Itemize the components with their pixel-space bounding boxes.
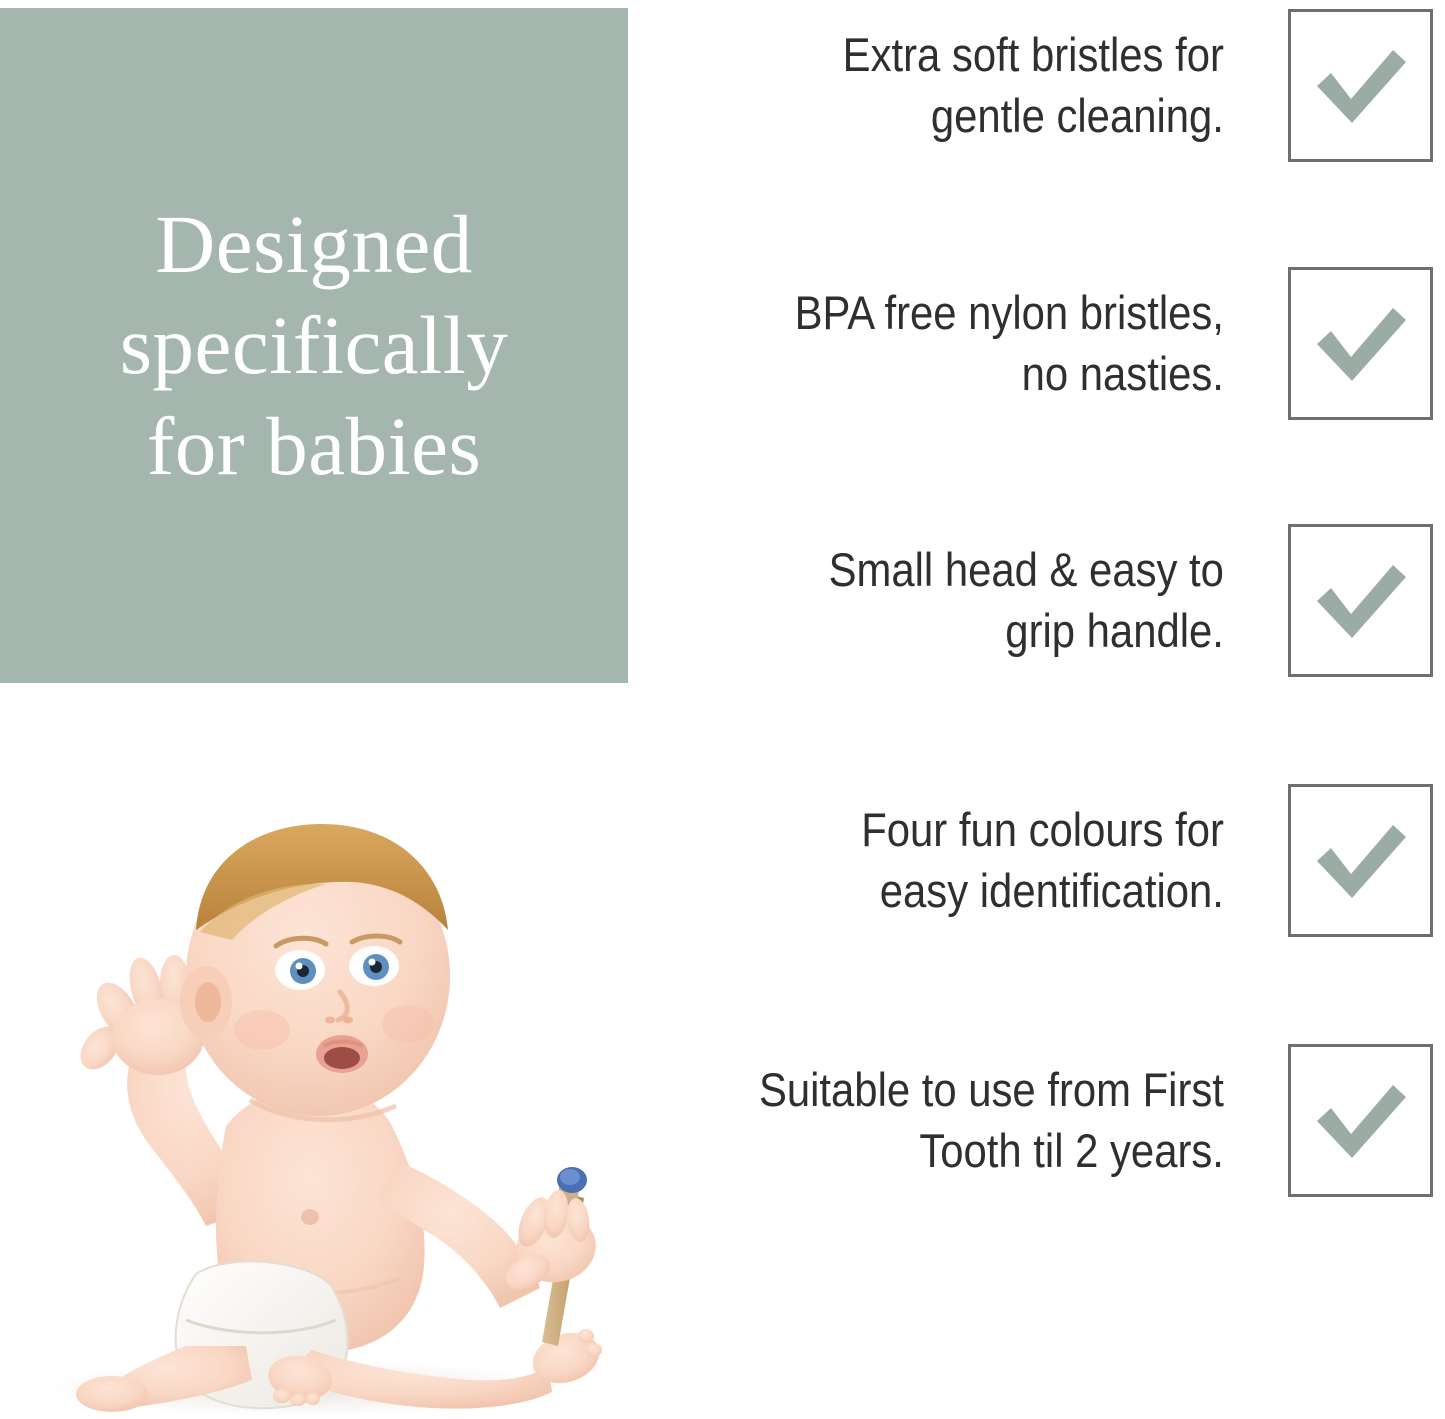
checkmark-icon: [1309, 1075, 1413, 1167]
feature-label: Extra soft bristles for gentle cleaning.: [711, 25, 1288, 145]
feature-item: Extra soft bristles for gentle cleaning.: [640, 3, 1445, 168]
checkmark-icon: [1309, 815, 1413, 907]
feature-checkbox[interactable]: [1288, 784, 1433, 937]
baby-photo-illustration: [0, 780, 640, 1419]
checkmark-icon: [1309, 298, 1413, 390]
feature-label: Suitable to use from First Tooth til 2 y…: [711, 1060, 1288, 1180]
checkmark-icon: [1309, 555, 1413, 647]
feature-label: Four fun colours for easy identification…: [711, 800, 1288, 920]
feature-item: Four fun colours for easy identification…: [640, 778, 1445, 943]
checkmark-icon: [1309, 40, 1413, 132]
feature-checkbox[interactable]: [1288, 1044, 1433, 1197]
feature-item: Small head & easy to grip handle.: [640, 518, 1445, 683]
feature-checkbox[interactable]: [1288, 524, 1433, 677]
product-feature-infographic: Designed specifically for babies: [0, 0, 1445, 1419]
feature-list: Extra soft bristles for gentle cleaning.…: [640, 0, 1445, 1419]
feature-checkbox[interactable]: [1288, 9, 1433, 162]
feature-label: BPA free nylon bristles, no nasties.: [711, 283, 1288, 403]
feature-checkbox[interactable]: [1288, 267, 1433, 420]
feature-label: Small head & easy to grip handle.: [711, 540, 1288, 660]
hero-panel: Designed specifically for babies: [0, 8, 628, 683]
feature-item: Suitable to use from First Tooth til 2 y…: [640, 1038, 1445, 1203]
feature-item: BPA free nylon bristles, no nasties.: [640, 261, 1445, 426]
page-title: Designed specifically for babies: [94, 194, 535, 498]
baby-photo: [0, 780, 640, 1419]
